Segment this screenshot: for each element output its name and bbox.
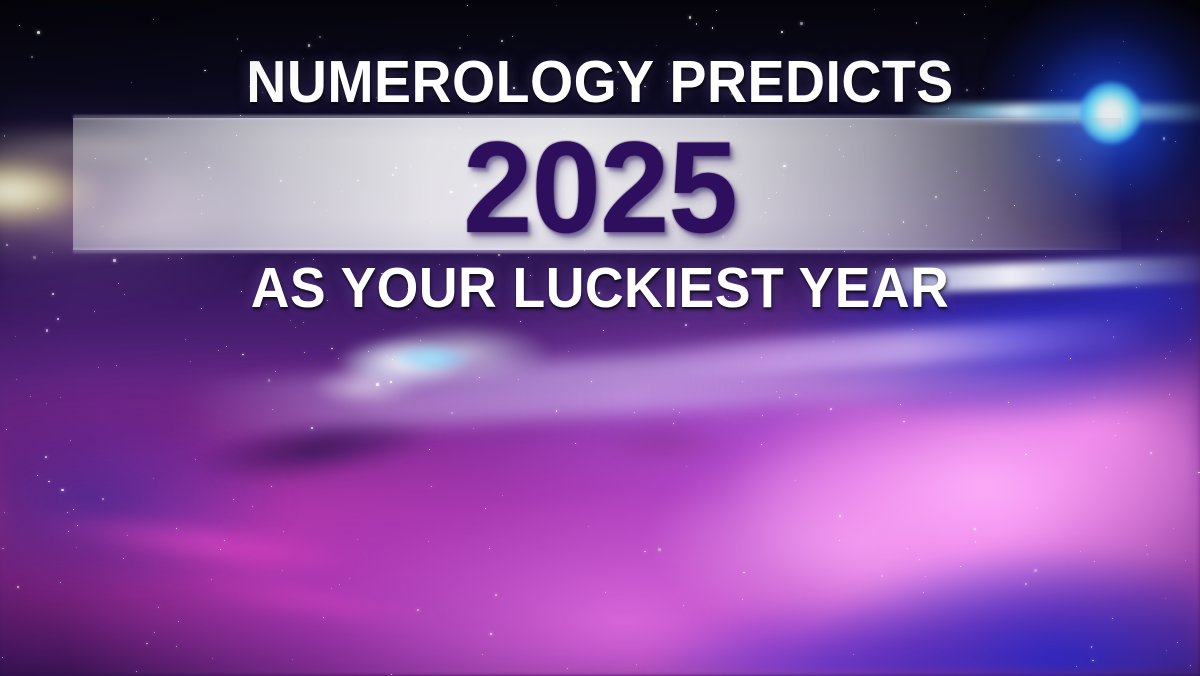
- year-title: 2025: [24, 122, 1176, 252]
- cyan-cloud-core: [372, 336, 492, 380]
- headline-bottom: AS YOUR LUCKIEST YEAR: [36, 258, 1164, 318]
- dark-nebula-rift-2: [560, 408, 770, 478]
- headline-top: NUMEROLOGY PREDICTS: [36, 52, 1164, 112]
- numerology-2025-poster: NUMEROLOGY PREDICTS 2025 AS YOUR LUCKIES…: [0, 0, 1200, 676]
